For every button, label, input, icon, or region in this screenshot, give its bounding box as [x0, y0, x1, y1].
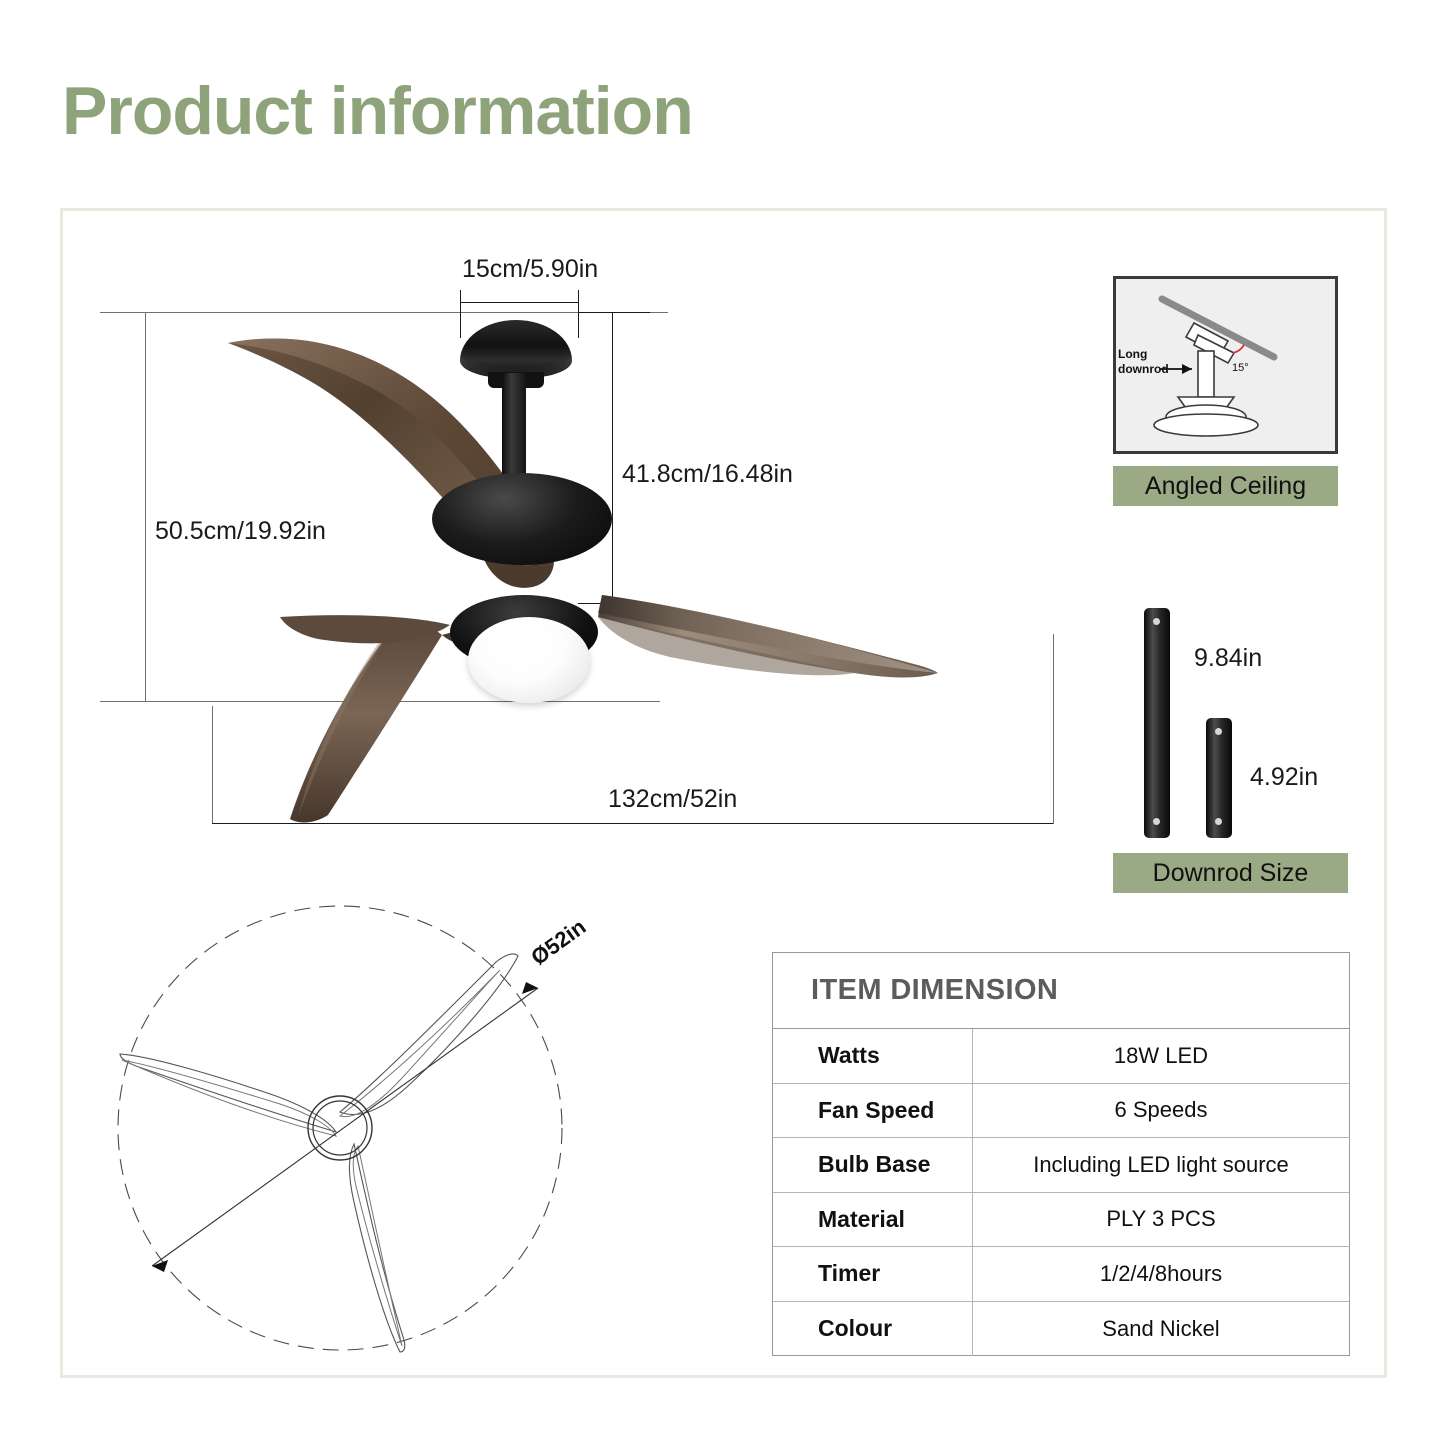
row-value: 18W LED	[973, 1029, 1349, 1083]
table-row: Timer 1/2/4/8hours	[773, 1247, 1349, 1302]
long-downrod-label-line2: downrod	[1118, 362, 1169, 376]
downrod-short-hole-bottom	[1215, 818, 1222, 825]
blade-sweep-diagram: Ø52in	[108, 880, 648, 1370]
downrod-long-hole-top	[1153, 618, 1160, 625]
table-row: Watts 18W LED	[773, 1029, 1349, 1084]
table-row: Colour Sand Nickel	[773, 1302, 1349, 1357]
row-key: Bulb Base	[773, 1138, 973, 1192]
led-light-dome	[468, 617, 590, 703]
angled-ceiling-illustration: 15° Long downrod	[1113, 276, 1338, 454]
downrod-short	[1206, 718, 1232, 838]
angled-ceiling-caption: Angled Ceiling	[1113, 466, 1338, 506]
blade-span-tick-right	[1053, 634, 1054, 824]
row-value: Including LED light source	[973, 1138, 1349, 1192]
overall-height-line	[145, 312, 146, 702]
row-value: PLY 3 PCS	[973, 1193, 1349, 1247]
downrod-size-caption: Downrod Size	[1113, 853, 1348, 893]
downrod-long	[1144, 608, 1170, 838]
row-key: Fan Speed	[773, 1084, 973, 1138]
long-downrod-label-line1: Long	[1118, 347, 1147, 361]
table-header: ITEM DIMENSION	[773, 953, 1349, 1029]
ceiling-fan-photo	[150, 295, 950, 825]
row-value: Sand Nickel	[973, 1302, 1349, 1357]
downrod-short-label: 4.92in	[1250, 763, 1318, 792]
canopy-width-label: 15cm/5.90in	[462, 255, 598, 284]
row-value: 1/2/4/8hours	[973, 1247, 1349, 1301]
blade-sweep-svg: Ø52in	[108, 880, 648, 1370]
motor-housing-upper	[432, 473, 612, 565]
table-row: Bulb Base Including LED light source	[773, 1138, 1349, 1193]
downrod-long-hole-bottom	[1153, 818, 1160, 825]
row-key: Material	[773, 1193, 973, 1247]
angle-value-label: 15°	[1232, 362, 1249, 374]
angled-ceiling-svg: 15° Long downrod	[1116, 279, 1335, 451]
downrod-short-hole-top	[1215, 728, 1222, 735]
row-key: Colour	[773, 1302, 973, 1357]
sweep-diameter-label: Ø52in	[526, 914, 590, 970]
row-key: Watts	[773, 1029, 973, 1083]
table-row: Fan Speed 6 Speeds	[773, 1084, 1349, 1139]
row-key: Timer	[773, 1247, 973, 1301]
row-value: 6 Speeds	[973, 1084, 1349, 1138]
page-title: Product information	[62, 72, 693, 150]
downrod-long-label: 9.84in	[1194, 644, 1262, 673]
table-row: Material PLY 3 PCS	[773, 1193, 1349, 1248]
item-dimension-table: ITEM DIMENSION Watts 18W LED Fan Speed 6…	[772, 952, 1350, 1356]
